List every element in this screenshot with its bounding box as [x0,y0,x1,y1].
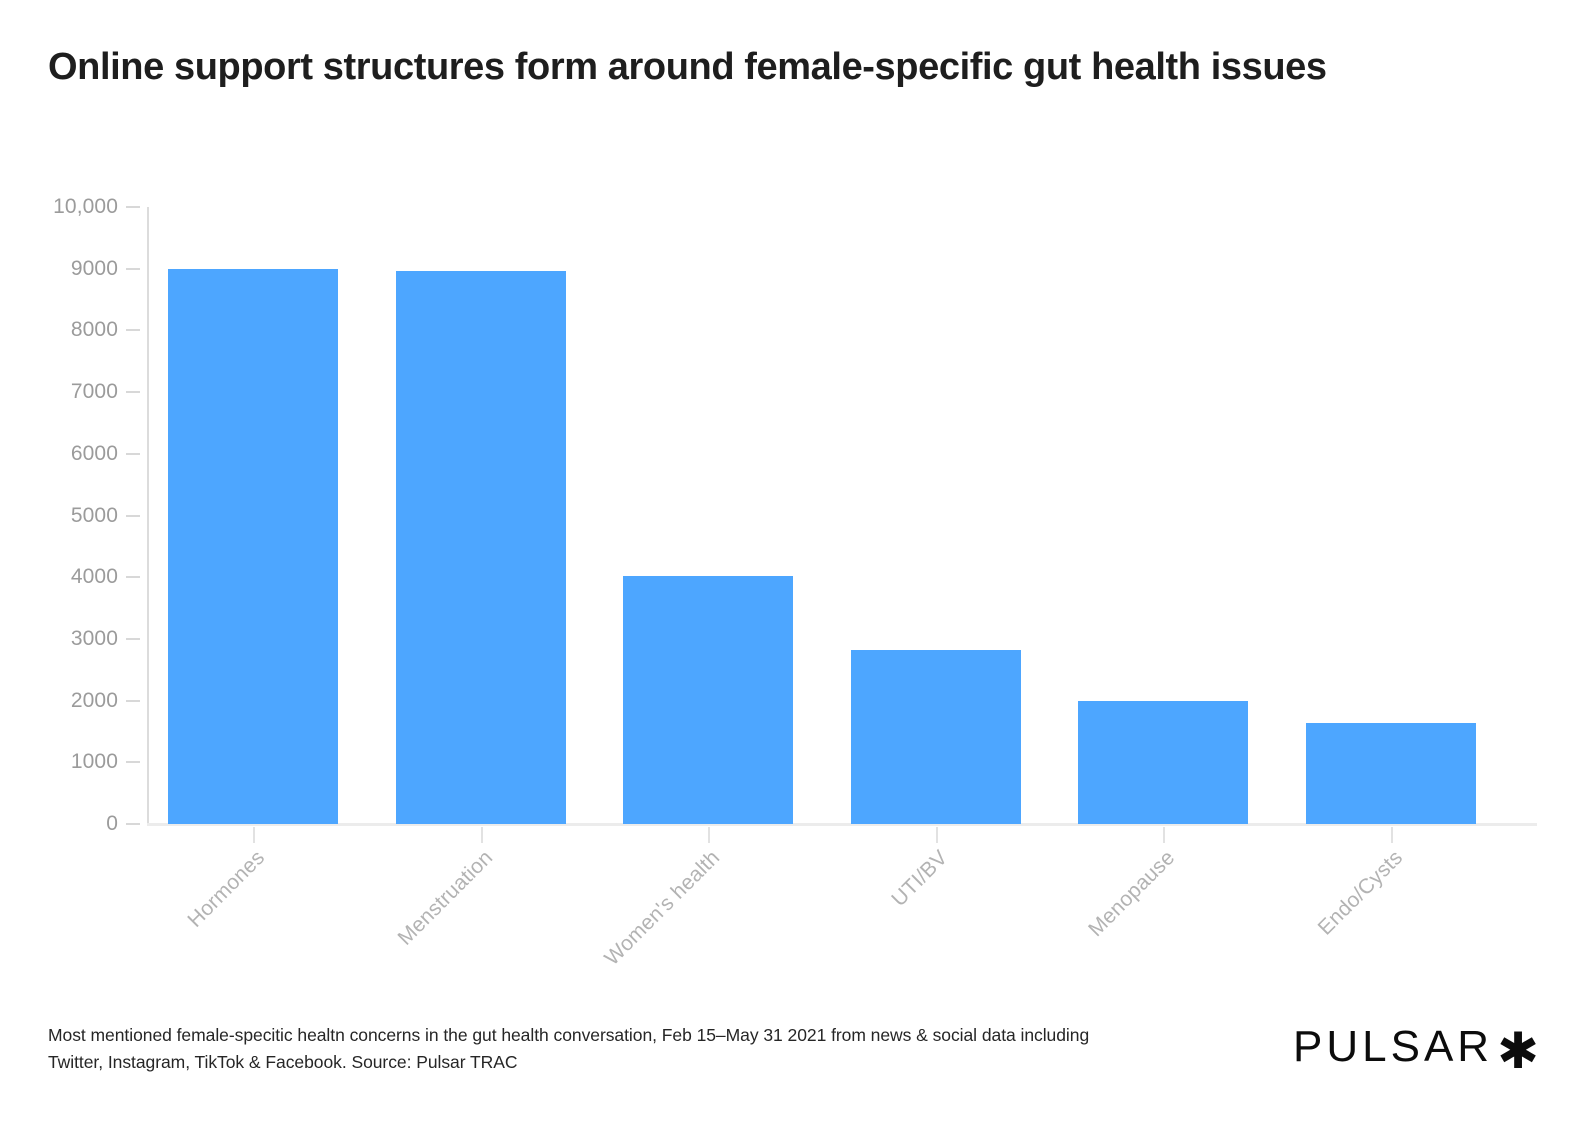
footer-caption: Most mentioned female-specitic healtn co… [48,1022,1228,1075]
bar-women-s-health[interactable] [623,576,793,824]
x-axis-tick-mark [708,827,710,843]
x-axis-tick-mark [481,827,483,843]
bars-container: HormonesMenstruationWomen's healthUTI/BV… [0,0,1583,1000]
x-axis-tick-mark [1391,827,1393,843]
bar-menstruation[interactable] [396,271,566,824]
footer-line-2: Twitter, Instagram, TikTok & Facebook. S… [48,1049,1228,1076]
x-axis-tick-mark [936,827,938,843]
bar-hormones[interactable] [168,269,338,824]
x-axis-tick-mark [253,827,255,843]
bar-uti-bv[interactable] [851,650,1021,824]
brand-wordmark: PULSAR [1293,1025,1493,1069]
pulsar-logo: PULSAR ✱ [1293,1022,1539,1072]
chart-page: Online support structures form around fe… [0,0,1583,1127]
footer-line-1: Most mentioned female-specitic healtn co… [48,1022,1228,1049]
bar-menopause[interactable] [1078,701,1248,824]
plot-area: 010002000300040005000600070008000900010,… [0,0,1583,1000]
bar-endo-cysts[interactable] [1306,723,1476,824]
x-axis-tick-mark [1163,827,1165,843]
asterisk-icon: ✱ [1497,1026,1539,1076]
